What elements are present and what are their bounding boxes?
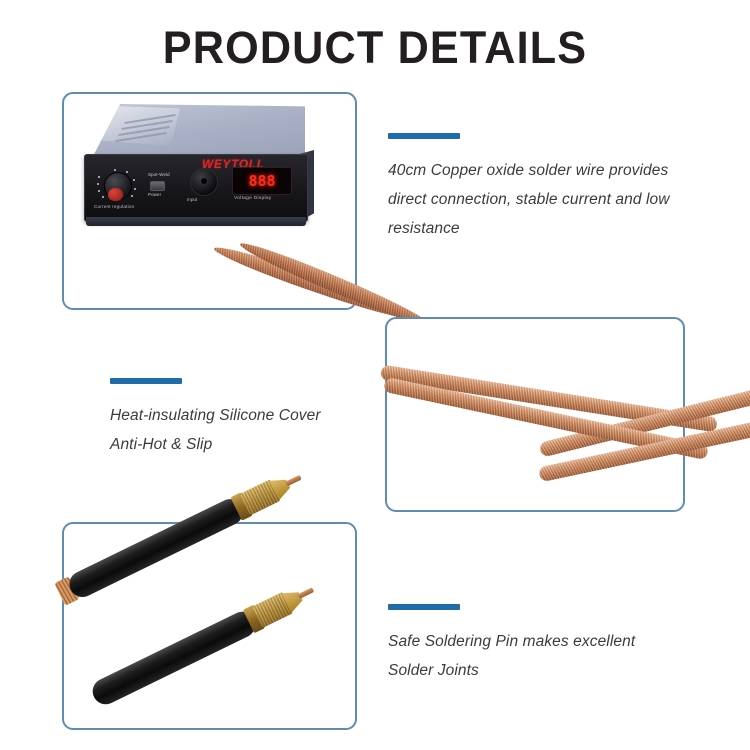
accent-bar bbox=[388, 604, 460, 610]
feature-caption-silicone-cover: Heat-insulating Silicone Cover Anti-Hot … bbox=[110, 378, 390, 459]
voltage-display: 888 bbox=[232, 167, 292, 195]
feature-line: Solder Joints bbox=[388, 656, 688, 685]
knob-tick bbox=[102, 196, 104, 198]
page-title: PRODUCT DETAILS bbox=[15, 22, 735, 74]
feature-text: Safe Soldering Pin makes excellent Solde… bbox=[388, 627, 688, 685]
knob-label: Current regulation bbox=[94, 204, 134, 209]
photo-soldering-pins bbox=[64, 524, 355, 728]
soldering-pin-upper bbox=[54, 465, 308, 607]
pin-copper-tip bbox=[285, 475, 302, 487]
spot-welder-device: WEYTOLL Current regulation bbox=[84, 104, 319, 249]
knob-tick bbox=[114, 169, 116, 171]
knob-red-cap[interactable] bbox=[108, 188, 123, 201]
photo-frame-soldering-pins bbox=[62, 522, 357, 730]
accent-bar bbox=[110, 378, 182, 384]
input-jack[interactable] bbox=[190, 168, 218, 196]
feature-caption-copper-wire: 40cm Copper oxide solder wire provides d… bbox=[388, 133, 698, 243]
device-base bbox=[86, 217, 306, 226]
photo-copper-braid-closeup bbox=[387, 319, 683, 510]
pin-copper-tip bbox=[298, 587, 315, 599]
voltage-digits: 888 bbox=[248, 174, 275, 189]
spot-weld-label: Spot-Weld bbox=[148, 172, 170, 177]
pin-silicone-sleeve bbox=[88, 607, 259, 708]
photo-frame-welder-unit: WEYTOLL Current regulation bbox=[62, 92, 357, 310]
power-led bbox=[150, 181, 165, 191]
knob-tick bbox=[126, 171, 128, 173]
knob-tick bbox=[133, 179, 135, 181]
accent-bar bbox=[388, 133, 460, 139]
knob-tick bbox=[98, 190, 100, 192]
photo-frame-copper-braid bbox=[385, 317, 685, 512]
indicator-group: Spot-Weld Power bbox=[144, 170, 184, 204]
feature-line: 40cm Copper oxide solder wire provides bbox=[388, 156, 698, 185]
feature-text: 40cm Copper oxide solder wire provides d… bbox=[388, 156, 698, 243]
knob-tick bbox=[131, 195, 133, 197]
jack-hole bbox=[201, 178, 207, 184]
knob-tick bbox=[98, 176, 100, 178]
knob-tick bbox=[134, 188, 136, 190]
feature-text: Heat-insulating Silicone Cover Anti-Hot … bbox=[110, 401, 390, 459]
feature-line: Safe Soldering Pin makes excellent bbox=[388, 627, 688, 656]
feature-line: Heat-insulating Silicone Cover bbox=[110, 401, 390, 430]
voltage-display-label: Voltage Display bbox=[234, 196, 272, 201]
feature-line: resistance bbox=[388, 214, 698, 243]
pin-silicone-sleeve bbox=[65, 495, 247, 602]
photo-welder-unit: WEYTOLL Current regulation bbox=[64, 94, 355, 308]
product-details-page: PRODUCT DETAILS WEYTOLL bbox=[0, 0, 750, 750]
power-label: Power bbox=[148, 192, 161, 197]
soldering-pin-lower bbox=[88, 576, 324, 709]
feature-line: Anti-Hot & Slip bbox=[110, 430, 390, 459]
feature-caption-soldering-pin: Safe Soldering Pin makes excellent Solde… bbox=[388, 604, 688, 685]
knob-tick bbox=[97, 183, 99, 185]
current-regulation-knob[interactable]: Current regulation bbox=[96, 168, 140, 212]
feature-line: direct connection, stable current and lo… bbox=[388, 185, 698, 214]
input-label: Input bbox=[187, 197, 197, 202]
